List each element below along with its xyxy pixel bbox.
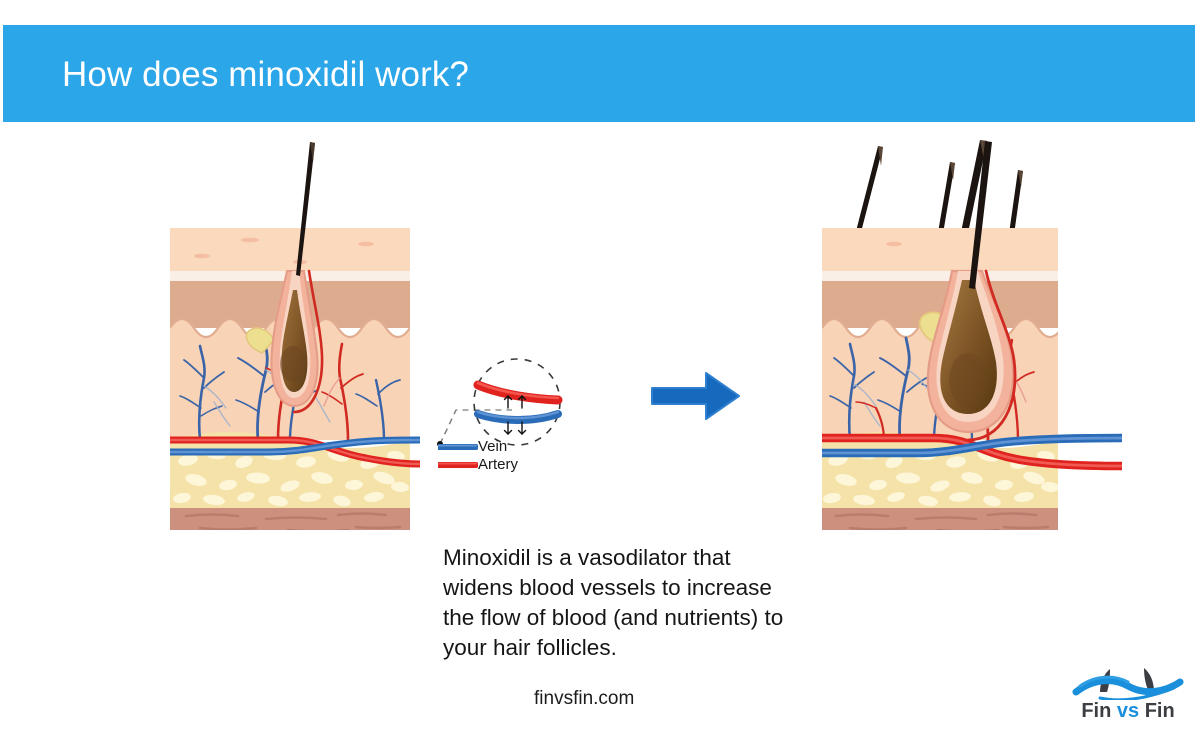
finvsfin-logo[interactable]: Fin vs Fin	[1070, 668, 1186, 730]
legend-swatches	[438, 438, 478, 474]
legend-label-vein: Vein	[478, 438, 507, 455]
description-line-3: the flow of blood (and nutrients) to	[443, 603, 863, 633]
logo-wordmark: Fin vs Fin	[1070, 700, 1186, 723]
logo-word-fin-1: Fin	[1081, 700, 1111, 722]
logo-word-fin-2: Fin	[1145, 700, 1175, 722]
description-line-4: your hair follicles.	[443, 633, 863, 663]
description-line-2: widens blood vessels to increase	[443, 573, 863, 603]
description-text: Minoxidil is a vasodilator that widens b…	[443, 543, 863, 663]
site-url[interactable]: finvsfin.com	[534, 688, 634, 710]
shark-fin-wave-icon	[1070, 668, 1186, 700]
skin-diagram-before	[170, 140, 420, 530]
skin-diagram-after	[822, 140, 1122, 530]
vessel-legend: Vein Artery	[438, 438, 478, 479]
description-line-1: Minoxidil is a vasodilator that	[443, 543, 863, 573]
transition-arrow-icon	[650, 368, 742, 429]
legend-label-artery: Artery	[478, 456, 518, 473]
logo-word-vs: vs	[1117, 700, 1139, 722]
page-title: How does minoxidil work?	[62, 55, 469, 95]
infographic-canvas: How does minoxidil work?	[0, 0, 1200, 741]
